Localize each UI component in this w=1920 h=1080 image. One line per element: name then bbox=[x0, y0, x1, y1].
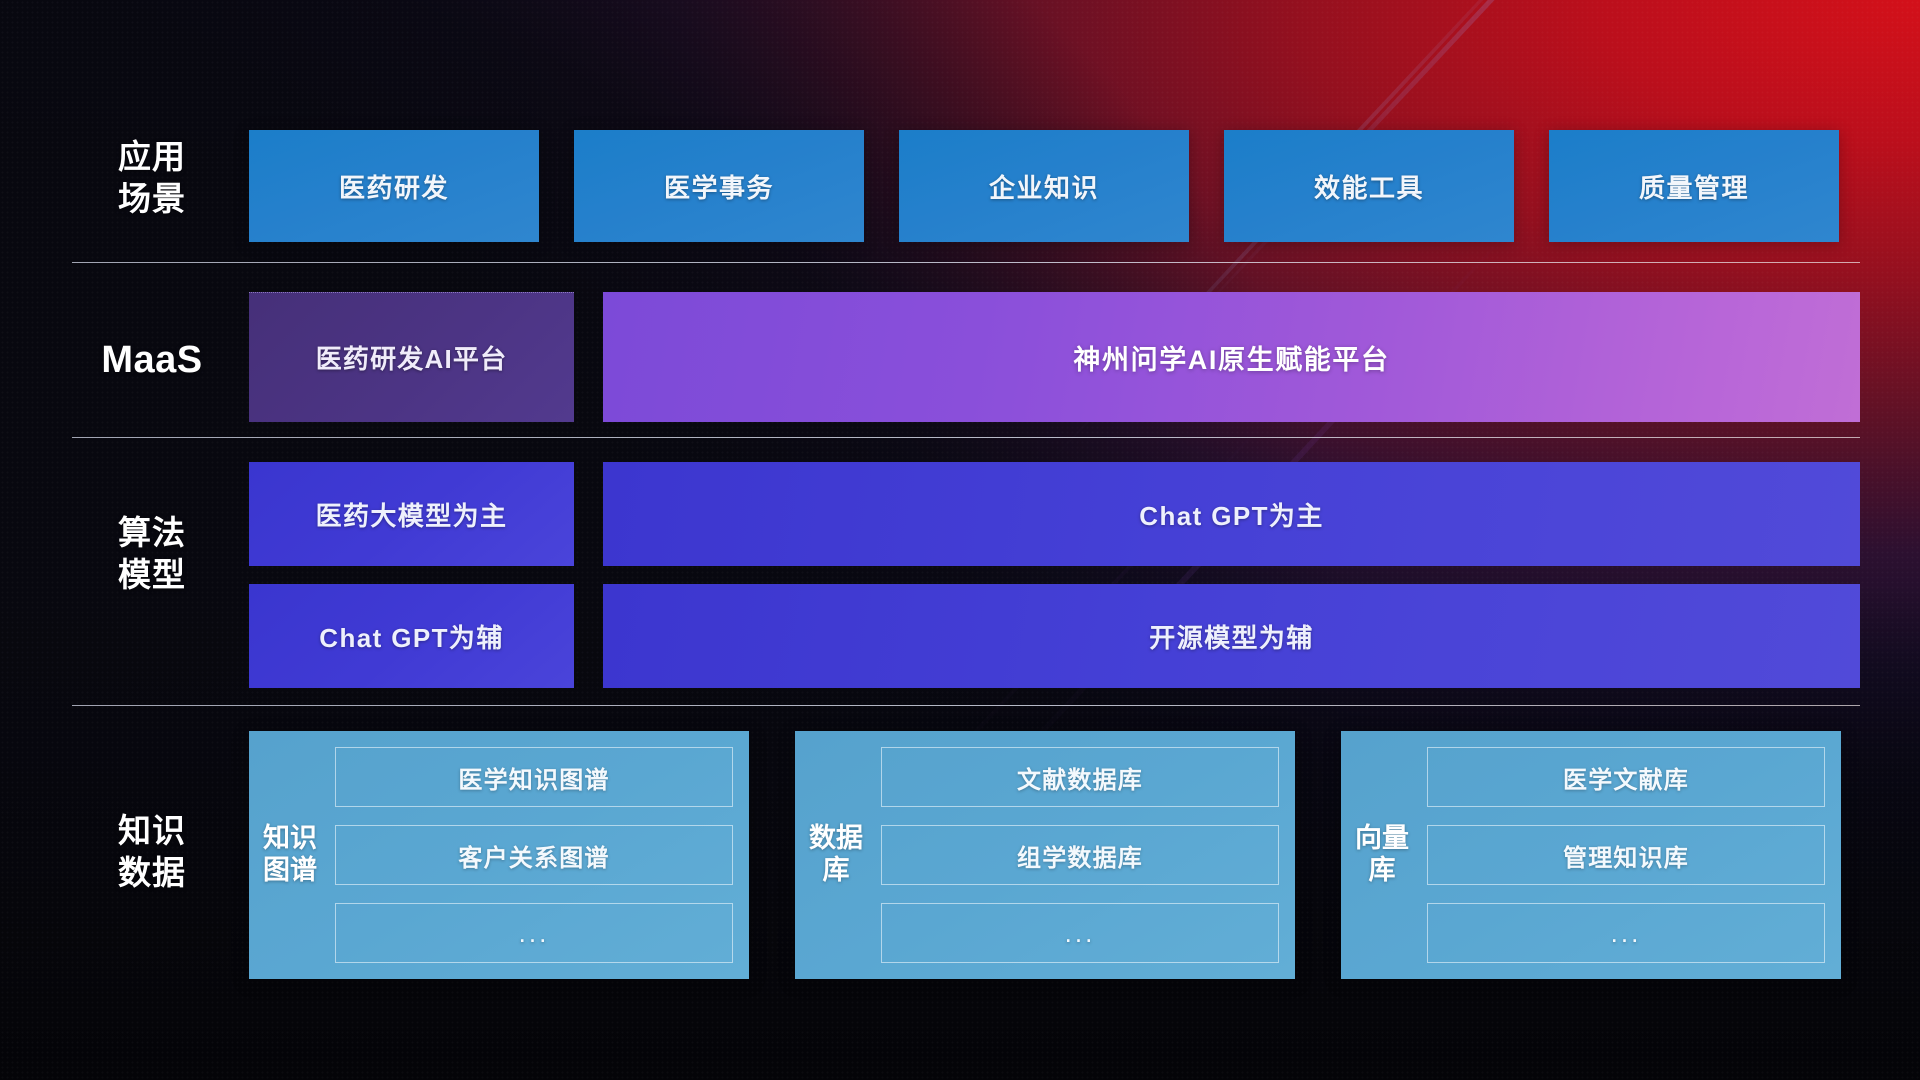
knowledge-card-database[interactable]: 数据库 文献数据库 组学数据库 ... bbox=[795, 731, 1295, 979]
architecture-diagram-slide: 应用 场景 医药研发 医学事务 企业知识 效能工具 质量管理 MaaS 医药研发… bbox=[0, 0, 1920, 1080]
scenario-box-4-label: 效能工具 bbox=[1314, 168, 1424, 205]
scenario-box-5[interactable]: 质量管理 bbox=[1549, 130, 1839, 242]
algorithm-box-left-primary[interactable]: 医药大模型为主 bbox=[249, 462, 574, 566]
knowledge-item[interactable]: 组学数据库 bbox=[881, 825, 1279, 885]
row-label-knowledge: 知识 数据 bbox=[72, 810, 232, 893]
scenario-box-3[interactable]: 企业知识 bbox=[899, 130, 1189, 242]
knowledge-card-3-items: 医学文献库 管理知识库 ... bbox=[1413, 741, 1829, 969]
knowledge-item-more[interactable]: ... bbox=[335, 903, 733, 963]
knowledge-item[interactable]: 管理知识库 bbox=[1427, 825, 1825, 885]
scenario-box-1-label: 医药研发 bbox=[339, 168, 449, 205]
scenario-box-5-label: 质量管理 bbox=[1639, 168, 1749, 205]
scenario-box-2[interactable]: 医学事务 bbox=[574, 130, 864, 242]
diagram-content: 应用 场景 医药研发 医学事务 企业知识 效能工具 质量管理 MaaS 医药研发… bbox=[0, 0, 1920, 1080]
knowledge-card-1-items: 医学知识图谱 客户关系图谱 ... bbox=[321, 741, 737, 969]
knowledge-card-vector-store[interactable]: 向量库 医学文献库 管理知识库 ... bbox=[1341, 731, 1841, 979]
knowledge-card-3-title: 向量库 bbox=[1351, 741, 1413, 969]
knowledge-item[interactable]: 客户关系图谱 bbox=[335, 825, 733, 885]
algorithm-box-right-primary[interactable]: Chat GPT为主 bbox=[603, 462, 1860, 566]
knowledge-item-more[interactable]: ... bbox=[1427, 903, 1825, 963]
knowledge-card-1-title: 知识图谱 bbox=[259, 741, 321, 969]
algorithm-box-right-secondary[interactable]: 开源模型为辅 bbox=[603, 584, 1860, 688]
maas-platform-box-shenzhou[interactable]: 神州问学AI原生赋能平台 bbox=[603, 292, 1860, 422]
scenario-box-1[interactable]: 医药研发 bbox=[249, 130, 539, 242]
algorithm-box-left-secondary-label: Chat GPT为辅 bbox=[319, 618, 503, 655]
knowledge-card-2-items: 文献数据库 组学数据库 ... bbox=[867, 741, 1283, 969]
scenario-box-2-label: 医学事务 bbox=[664, 168, 774, 205]
knowledge-item[interactable]: 文献数据库 bbox=[881, 747, 1279, 807]
algorithm-box-left-secondary[interactable]: Chat GPT为辅 bbox=[249, 584, 574, 688]
knowledge-card-2-title: 数据库 bbox=[805, 741, 867, 969]
row-label-algorithm: 算法 模型 bbox=[72, 512, 232, 595]
maas-platform-box-drug-rnd[interactable]: 医药研发AI平台 bbox=[249, 292, 574, 422]
algorithm-box-right-primary-label: Chat GPT为主 bbox=[1139, 496, 1323, 533]
divider-maas-algorithm bbox=[72, 437, 1860, 438]
maas-right-label: 神州问学AI原生赋能平台 bbox=[1073, 338, 1389, 377]
scenario-box-4[interactable]: 效能工具 bbox=[1224, 130, 1514, 242]
knowledge-item[interactable]: 医学文献库 bbox=[1427, 747, 1825, 807]
knowledge-item[interactable]: 医学知识图谱 bbox=[335, 747, 733, 807]
maas-left-label: 医药研发AI平台 bbox=[316, 339, 508, 376]
row-label-scenarios: 应用 场景 bbox=[72, 136, 232, 219]
knowledge-item-more[interactable]: ... bbox=[881, 903, 1279, 963]
scenario-box-3-label: 企业知识 bbox=[989, 168, 1099, 205]
divider-algorithm-knowledge bbox=[72, 705, 1860, 706]
algorithm-box-right-secondary-label: 开源模型为辅 bbox=[1149, 618, 1313, 655]
algorithm-box-left-primary-label: 医药大模型为主 bbox=[316, 496, 508, 533]
row-label-maas: MaaS bbox=[72, 337, 232, 385]
knowledge-card-knowledge-graph[interactable]: 知识图谱 医学知识图谱 客户关系图谱 ... bbox=[249, 731, 749, 979]
divider-scenarios-maas bbox=[72, 262, 1860, 263]
